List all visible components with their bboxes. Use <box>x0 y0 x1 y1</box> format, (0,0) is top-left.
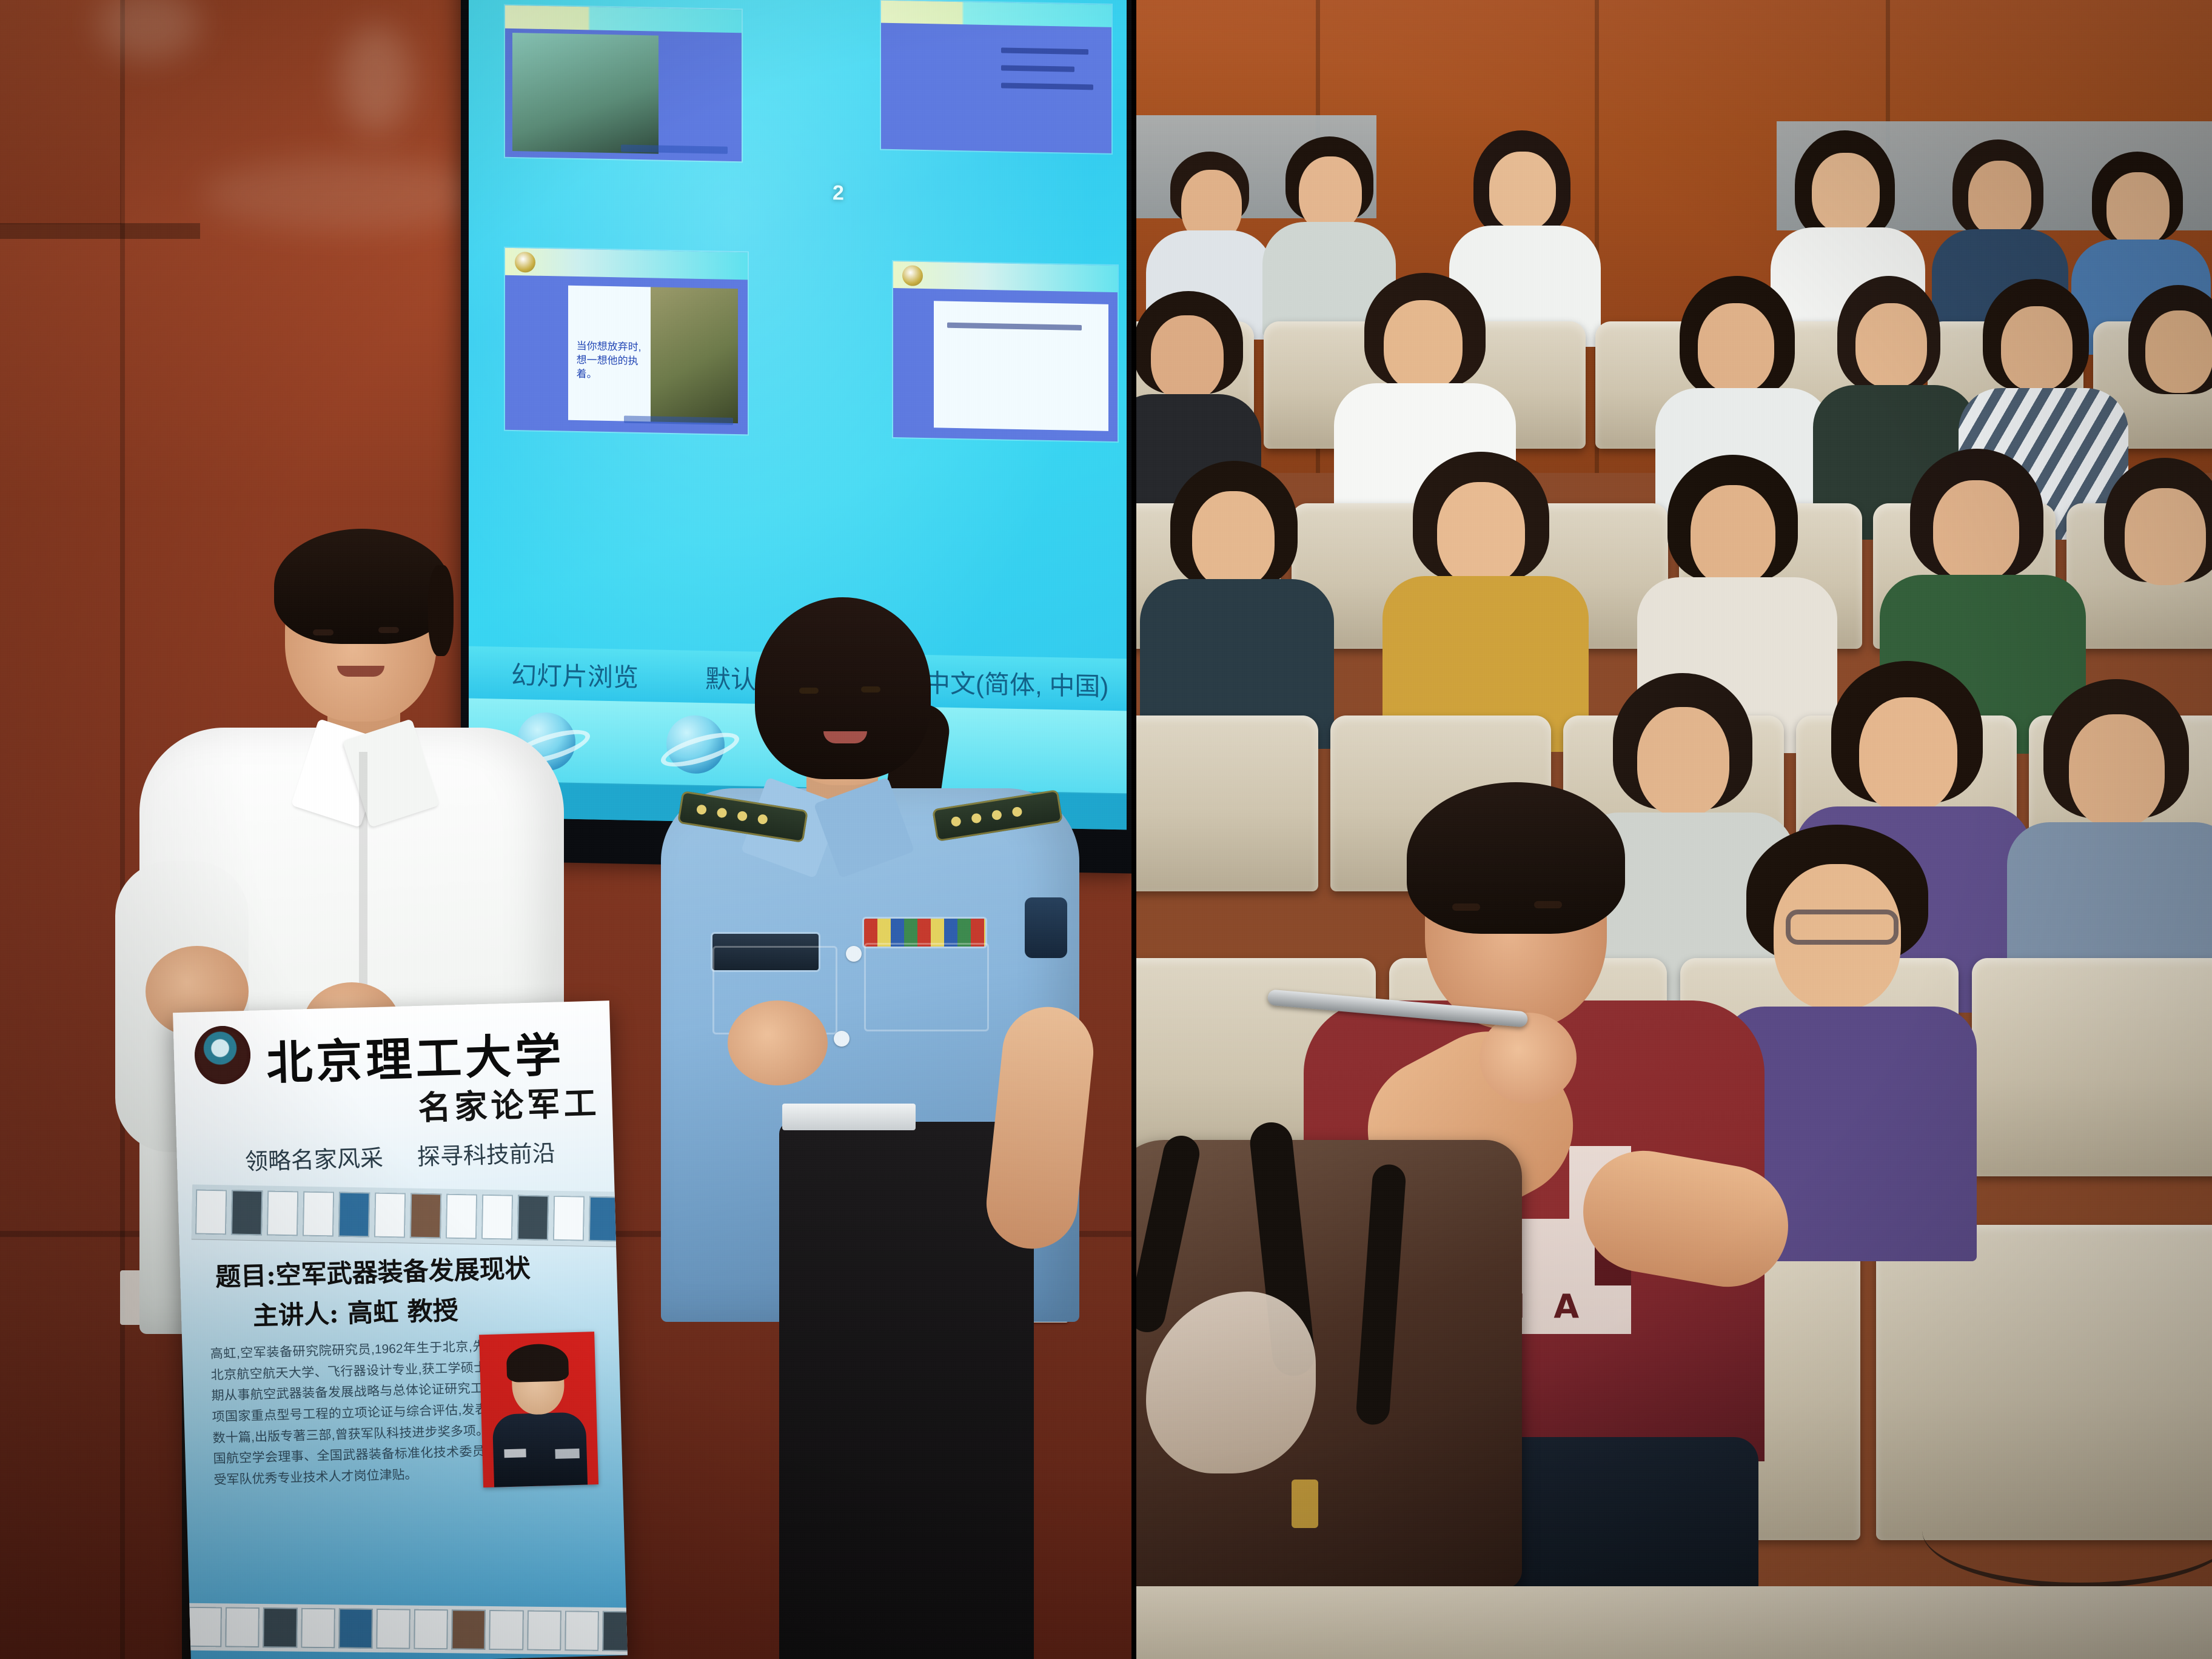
slide-titlebar <box>505 248 748 280</box>
slide-caption-text: 当你想放弃时,想一想他的执着。 <box>577 340 645 383</box>
filmstrip-decoration-bottom <box>184 1603 628 1655</box>
student-eye <box>1534 901 1562 908</box>
audience-face <box>1384 300 1463 391</box>
audience-photo-panel: M A <box>1134 0 2212 1659</box>
slide-text-line <box>1001 65 1075 72</box>
audience-face <box>2069 714 2165 827</box>
slide-thumbnail <box>893 261 1118 441</box>
stage-photo-panel: 2 当你想放弃时,想一想他的执着。 幻灯片浏览 默 <box>0 0 1134 1659</box>
man-eye <box>313 629 333 635</box>
audience-face <box>1437 482 1525 585</box>
man-eye <box>378 627 399 633</box>
slide-text-line <box>1001 83 1093 90</box>
woman-hand <box>728 1000 828 1085</box>
floor-cable <box>1922 1473 2212 1588</box>
poster-motto: 领略名家风采 探寻科技前沿 <box>244 1133 597 1176</box>
audience-face <box>1933 480 2019 582</box>
eyeglasses-icon <box>1786 910 1899 945</box>
wall-highlight <box>340 24 412 133</box>
audience-face <box>2106 172 2170 246</box>
slide-thumbnail <box>505 5 742 161</box>
audience-face <box>1698 303 1774 393</box>
audience-face <box>1489 152 1556 230</box>
audience-face <box>1151 315 1224 400</box>
uniform-button <box>846 946 862 962</box>
woman-eye <box>861 686 880 692</box>
arm-patch <box>1025 897 1067 958</box>
slide-number: 2 <box>833 181 844 205</box>
university-emblem-icon <box>194 1025 252 1085</box>
slide-emblem-icon <box>515 252 535 273</box>
audience-face <box>2125 488 2206 585</box>
internet-explorer-icon[interactable] <box>666 715 725 774</box>
slide-image <box>512 33 659 154</box>
student-hair <box>1407 782 1625 934</box>
audience-face <box>1855 303 1927 388</box>
status-language: 中文(简体, 中国) <box>925 663 1108 703</box>
slide-image <box>651 287 738 423</box>
audience-face <box>1968 161 2031 236</box>
poster-topic: 题目:空军武器装备发展现状 <box>215 1248 531 1293</box>
slide-thumbnail: 当你想放弃时,想一想他的执着。 <box>505 248 748 435</box>
man-hair <box>274 529 450 644</box>
slide-emblem-icon <box>902 265 923 286</box>
wall-trim-band <box>0 223 200 239</box>
wall-highlight <box>200 158 491 230</box>
audience-face <box>1859 697 1957 813</box>
slide-text-panel: 当你想放弃时,想一想他的执着。 <box>568 286 651 422</box>
speaker-id-photo <box>479 1332 598 1487</box>
motto-right: 探寻科技前沿 <box>417 1134 555 1171</box>
uniform-belt <box>782 1104 916 1130</box>
backpack-strap <box>1355 1164 1407 1426</box>
slide-text-panel <box>934 301 1109 431</box>
uniform-pocket <box>864 943 989 1031</box>
audience-face <box>1812 153 1880 233</box>
man-mouth <box>337 666 384 677</box>
audience-face <box>1192 491 1275 588</box>
audience-face <box>2001 306 2073 391</box>
panel-divider <box>1131 0 1136 1659</box>
student-hand <box>1480 1013 1577 1104</box>
commemorative-poster: 北京理工大学 名家论军工 领略名家风采 探寻科技前沿 题目:空军武器装备发展现状… <box>173 1000 628 1659</box>
backpack-strap <box>1134 1132 1203 1335</box>
audience-face <box>1299 156 1362 232</box>
backpack-buckle <box>1292 1480 1318 1528</box>
auditorium-floor <box>1134 1586 2212 1659</box>
filmstrip-decoration <box>192 1184 624 1246</box>
wall-seam-vertical <box>120 0 125 1659</box>
poster-series-name: 名家论军工 <box>417 1076 600 1129</box>
slide-text-line <box>1001 47 1088 55</box>
woman-hair <box>755 597 931 779</box>
student-eye <box>1452 903 1480 911</box>
slide-titlebar <box>505 5 742 33</box>
status-view-mode: 幻灯片浏览 <box>511 654 638 694</box>
slide-titlebar <box>893 261 1118 292</box>
slide-thumbnail <box>881 1 1111 153</box>
backpack-flap <box>1146 1292 1316 1473</box>
slide-titlebar <box>881 1 1111 27</box>
poster-speaker: 主讲人: 高虹 教授 <box>252 1290 458 1332</box>
backpack <box>1134 1140 1522 1589</box>
audience-face <box>1691 485 1775 586</box>
woman-eye <box>799 688 819 694</box>
uniform-button <box>834 1031 850 1047</box>
woman-mouth <box>823 731 867 743</box>
slide-caption-bar <box>624 415 733 424</box>
motto-left: 领略名家风采 <box>244 1139 383 1176</box>
audience-face <box>2145 310 2212 393</box>
photo-composite: 2 当你想放弃时,想一想他的执着。 幻灯片浏览 默 <box>0 0 2212 1659</box>
